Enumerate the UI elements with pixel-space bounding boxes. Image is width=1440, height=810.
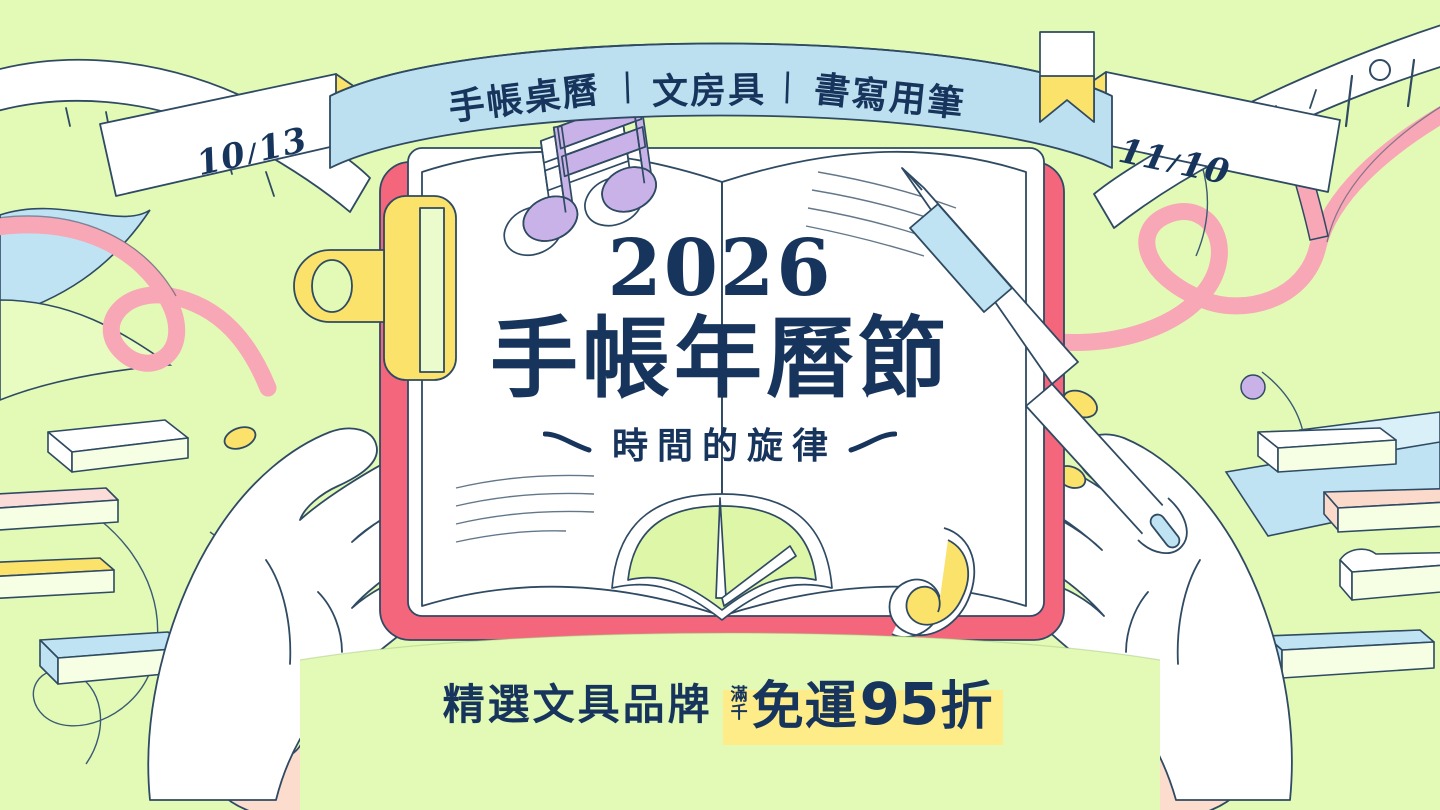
promo-banner: 手帳桌曆 | 文房具 | 書寫用筆 10/13 11/10 2026 手帳年曆節… [0, 0, 1440, 810]
promo-backdrop [300, 633, 1160, 810]
banner-artwork [0, 0, 1440, 810]
